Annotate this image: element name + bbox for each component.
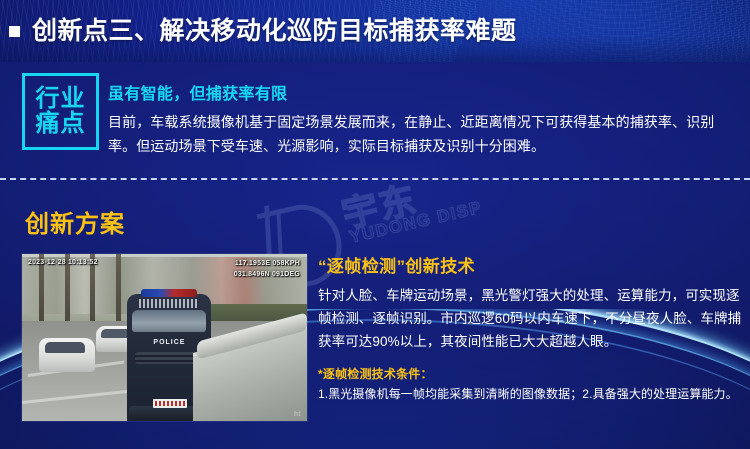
- photo-gps-line2: 031.8496N 091DEG: [234, 269, 300, 280]
- section-divider: [0, 178, 750, 180]
- tech-title: “逐帧检测”创新技术: [318, 252, 475, 277]
- photo-tree: [116, 254, 121, 321]
- square-bullet-icon: [9, 26, 20, 37]
- badge-label-line1: 行业: [36, 87, 86, 111]
- photo-timestamp-overlay: 2023-12-28 10:13:52: [28, 259, 98, 266]
- police-roof-marking: [139, 299, 199, 308]
- industry-pain-point-badge: 行业 痛点: [22, 73, 99, 150]
- page-title: 创新点三、解决移动化巡防目标捕获率难题: [32, 12, 517, 50]
- police-windshield: [132, 310, 206, 332]
- police-badge-text: POLICE: [135, 338, 203, 347]
- police-lightbar: [141, 289, 197, 297]
- photo-car-white-left: [39, 338, 95, 372]
- condition-heading: *逐帧检测技术条件：: [318, 365, 433, 382]
- photo-gps-line1: 117.1953E 058KPH: [234, 258, 300, 269]
- solution-section-title: 创新方案: [25, 204, 125, 239]
- pain-point-heading: 虽有智能，但捕获率有限: [108, 80, 287, 104]
- slide-root: 创新点三、解决移动化巡防目标捕获率难题 行业 痛点 虽有智能，但捕获率有限 目前…: [0, 0, 750, 449]
- dashcam-photo: POLICE 2023-12-28 10:13:52 117.1953E 058…: [22, 254, 307, 421]
- condition-body: 1.黑光摄像机每一帧均能采集到清晰的图像数据；2.具备强大的处理运算能力。: [318, 385, 746, 403]
- pain-point-body: 目前，车载系统摄像机基于固定场景发展而来，在静止、近距离情况下可获得基本的捕获率…: [108, 110, 736, 158]
- police-license-plate: [153, 399, 187, 408]
- photo-gps-overlay: 117.1953E 058KPH 031.8496N 091DEG: [234, 258, 300, 280]
- photo-corner-watermark: ht: [294, 411, 301, 418]
- tech-body: 针对人脸、车牌运动场景，黑光警灯强大的处理、运算能力，可实现逐帧检测、逐帧识别。…: [318, 284, 742, 353]
- badge-label-line2: 痛点: [36, 112, 86, 136]
